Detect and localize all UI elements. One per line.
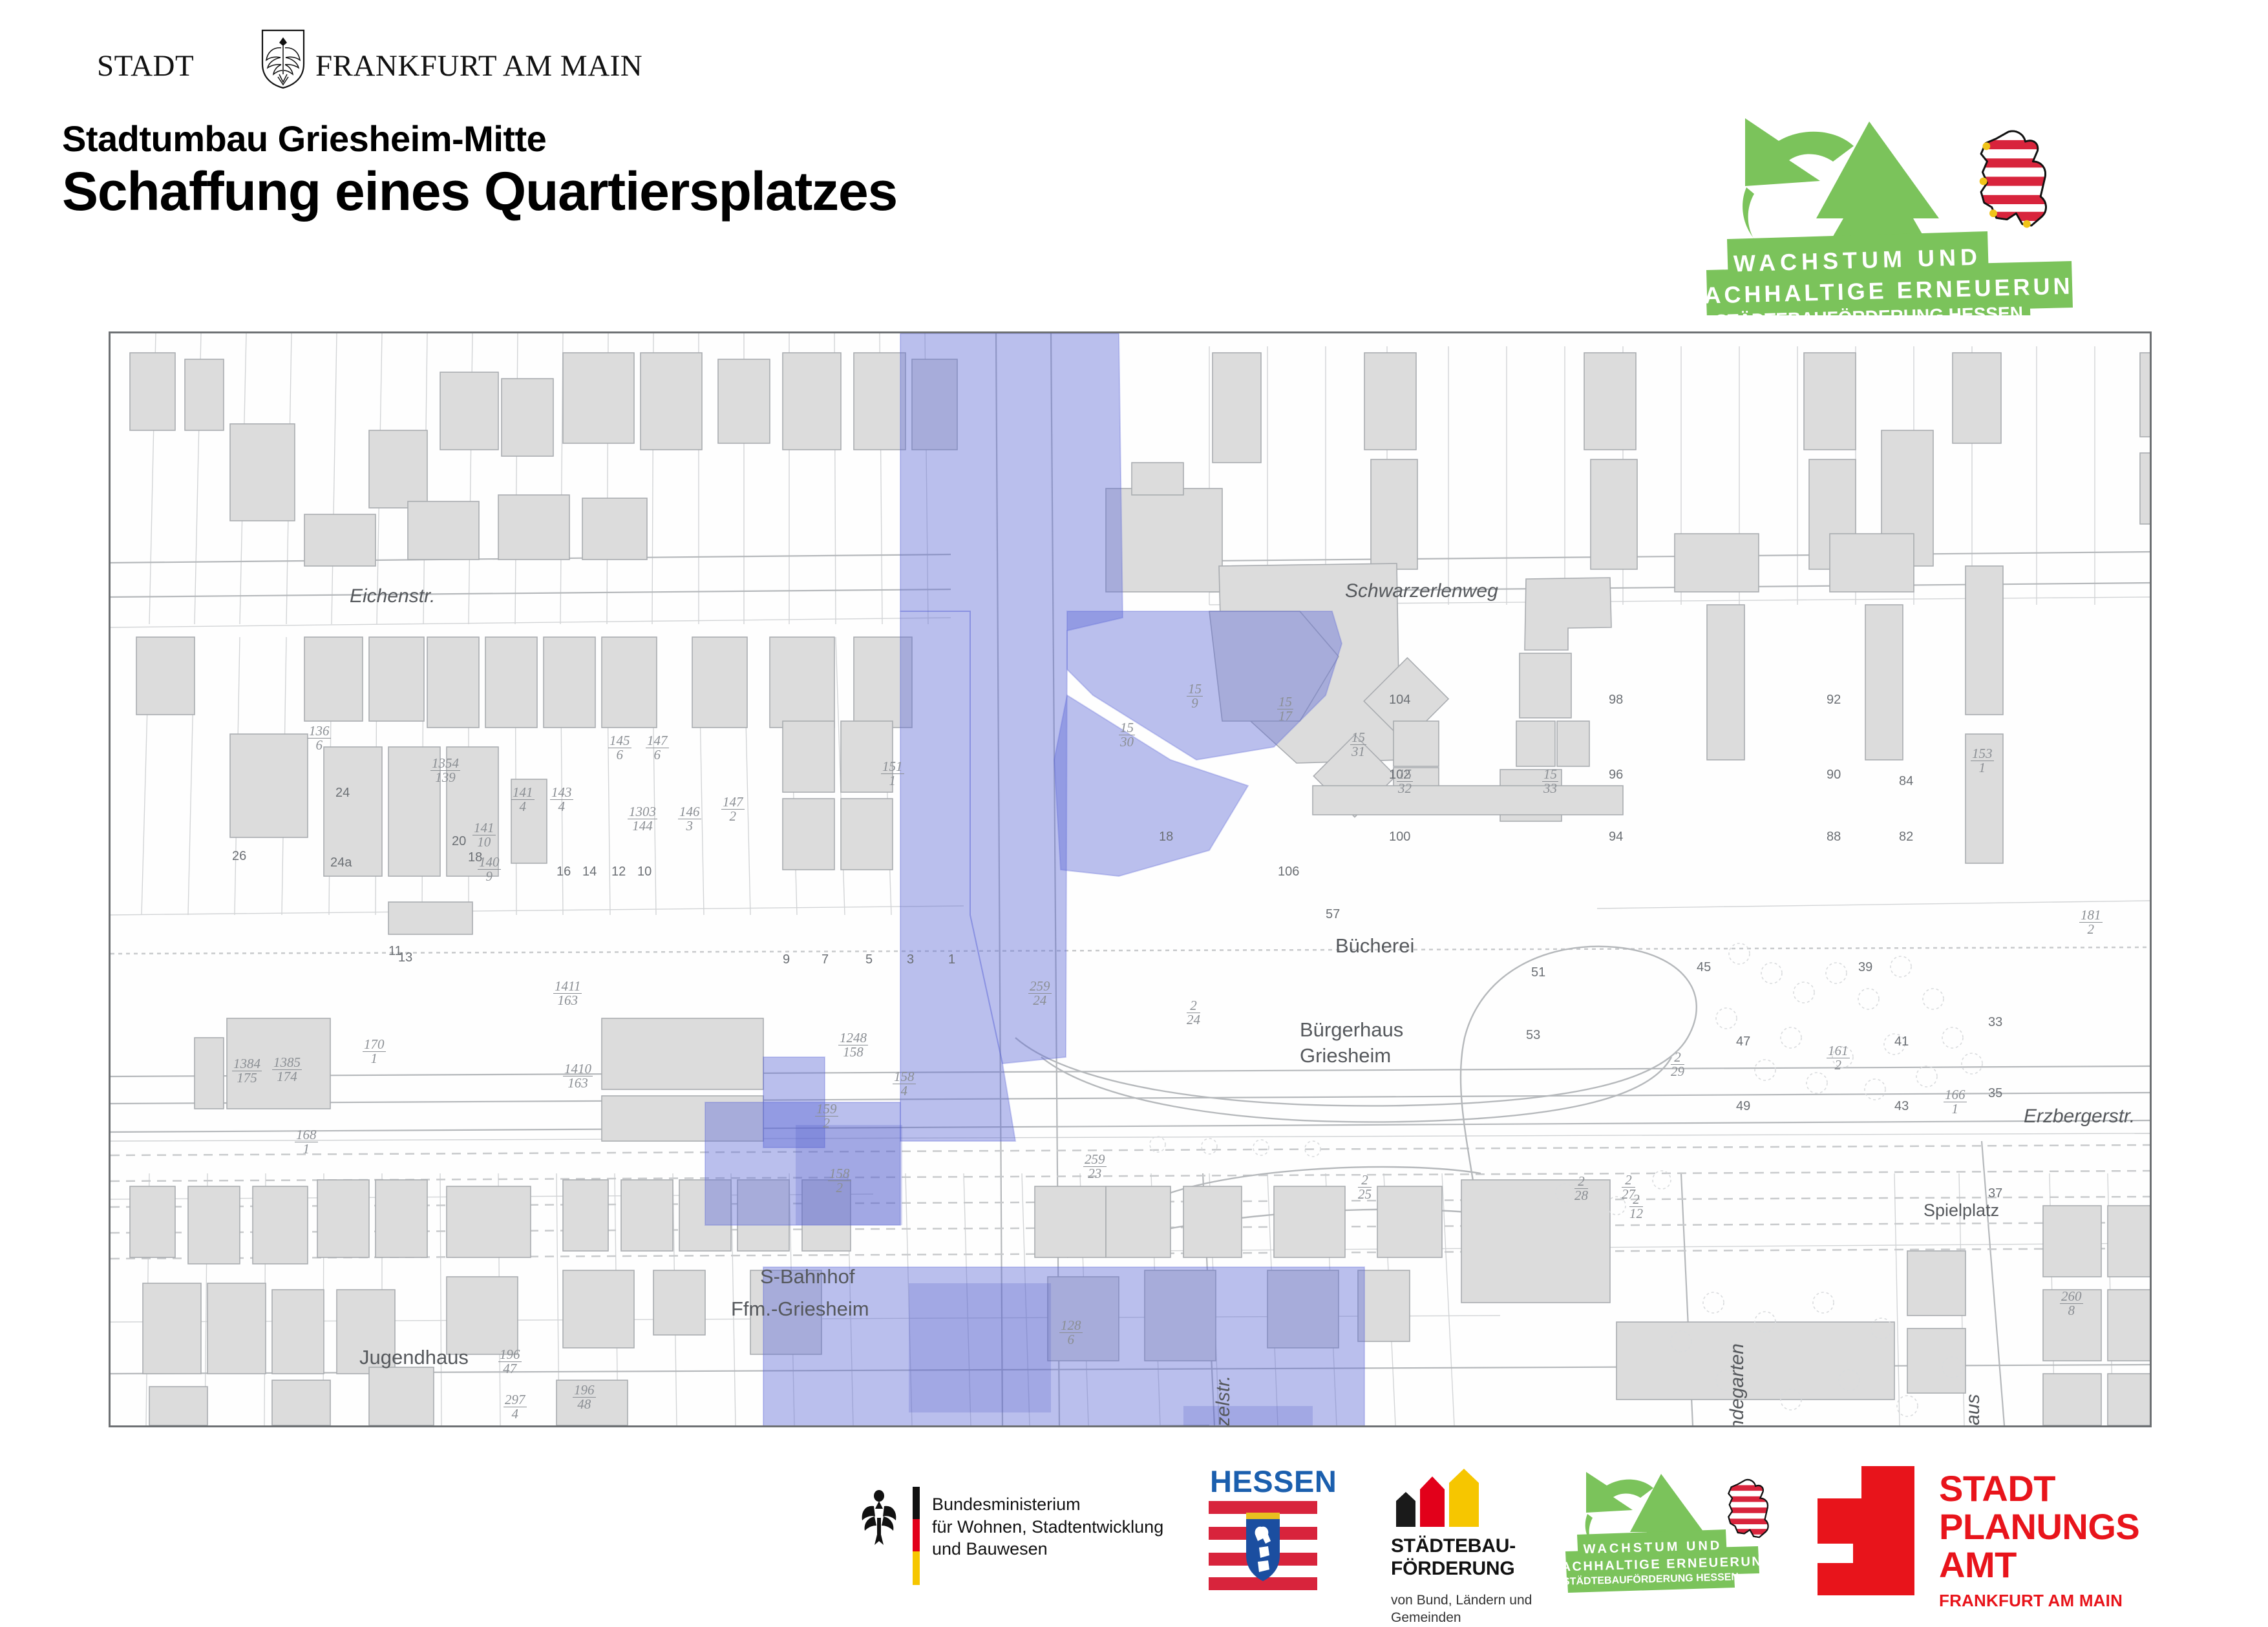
map-parcel-number: 17 bbox=[1862, 1425, 1872, 1427]
map-parcel-number: 1612 bbox=[1827, 1044, 1850, 1072]
map-house-number: 35 bbox=[1988, 1086, 2002, 1101]
map-house-number: 26 bbox=[232, 849, 246, 864]
map-parcel-number: 225 bbox=[1358, 1173, 1372, 1201]
map-place-label: Bürgerhaus bbox=[1300, 1018, 1403, 1042]
map-house-number: 10 bbox=[637, 865, 652, 879]
map-house-number: 53 bbox=[1526, 1028, 1540, 1043]
map-house-number: 94 bbox=[1609, 830, 1623, 845]
spa-sub: FRANKFURT AM MAIN bbox=[1939, 1591, 2139, 1611]
map-parcel-number: 1409 bbox=[478, 855, 501, 883]
map-parcel-number: 1531 bbox=[1971, 747, 1994, 775]
three-houses-icon bbox=[1391, 1469, 1485, 1527]
map-house-number: 3 bbox=[907, 952, 914, 967]
map-house-number: 49 bbox=[1736, 1099, 1750, 1114]
map-parcel-number: 1303144 bbox=[628, 805, 657, 833]
spa-line3: AMT bbox=[1939, 1546, 2139, 1584]
frankfurt-eagle-crest-icon bbox=[260, 28, 306, 89]
map-house-number: 98 bbox=[1609, 693, 1623, 708]
map-parcel-number: 19648 bbox=[573, 1383, 596, 1411]
stadtplanungsamt-mark-icon bbox=[1818, 1466, 1914, 1595]
bmwsb-line2: für Wohnen, Stadtentwicklung bbox=[932, 1516, 1163, 1538]
map-parcel-number: 1411163 bbox=[553, 980, 582, 1007]
map-house-number: 51 bbox=[1531, 965, 1545, 980]
map-house-number: 16 bbox=[556, 865, 571, 879]
hessen-lion-icon bbox=[1977, 131, 2053, 228]
map-parcel-number: 1248158 bbox=[838, 1031, 868, 1059]
map-parcel-number: 1701 bbox=[363, 1038, 386, 1065]
map-parcel-number: 1286 bbox=[1059, 1319, 1083, 1347]
map-house-number: 104 bbox=[1389, 693, 1410, 708]
sbf-line1: STÄDTEBAU- bbox=[1391, 1535, 1516, 1557]
map-place-label: Ffm.-Griesheim bbox=[731, 1297, 869, 1321]
map-house-number: 88 bbox=[1827, 830, 1841, 845]
bmwsb-line3: und Bauwesen bbox=[932, 1538, 1163, 1560]
map-house-number: 45 bbox=[1697, 960, 1711, 975]
hessen-lion-icon bbox=[1726, 1480, 1772, 1537]
map-parcel-number: 1812 bbox=[2079, 908, 2103, 936]
map-parcel-number: 19647 bbox=[498, 1348, 522, 1376]
hessen-word: HESSEN bbox=[1210, 1464, 1337, 1499]
map-parcel-number: 1584 bbox=[893, 1070, 916, 1098]
map-house-number: 90 bbox=[1827, 768, 1841, 782]
map-house-number: 82 bbox=[1899, 830, 1913, 845]
map-place-label: S-Bahnhof bbox=[760, 1265, 855, 1288]
map-street-label: Erzbergerstr. bbox=[2024, 1106, 2135, 1128]
page-header: STADT FRANKFURT AM MAIN Stadtumbau Gries… bbox=[0, 0, 2268, 304]
spa-line1: STADT bbox=[1939, 1470, 2139, 1508]
city-of-frankfurt-logo: STADT FRANKFURT AM MAIN bbox=[97, 36, 511, 94]
logo-staedtebaufoerderung: STÄDTEBAU- FÖRDERUNG von Bund, Ländern u… bbox=[1391, 1469, 1585, 1598]
map-parcel-number: 1532 bbox=[1397, 768, 1413, 795]
city-logo-text-left: STADT bbox=[97, 48, 194, 83]
map-house-number: 12 bbox=[611, 865, 626, 879]
sbf-sub1: von Bund, Ländern und bbox=[1391, 1592, 1532, 1610]
bmwsb-line1: Bundesministerium bbox=[932, 1493, 1163, 1516]
map-house-number: 13 bbox=[398, 950, 412, 965]
map-parcel-number: 1681 bbox=[295, 1128, 318, 1156]
map-parcel-number: 224 bbox=[1187, 999, 1200, 1027]
logo-bundesministerium: Bundesministerium für Wohnen, Stadtentwi… bbox=[860, 1475, 1163, 1585]
map-parcel-number: 228 bbox=[1574, 1175, 1588, 1202]
map-parcel-number: 1592 bbox=[815, 1102, 838, 1130]
logo-program-footer: WACHSTUM UND NACHHALTIGE ERNEUERUNG STÄD… bbox=[1564, 1470, 1797, 1596]
map-house-number: 14 bbox=[582, 865, 597, 879]
map-street-label: Obere Rützelstr. bbox=[1213, 1376, 1235, 1427]
map-house-number: 100 bbox=[1389, 830, 1410, 845]
map-parcel-number: 229 bbox=[1671, 1051, 1684, 1078]
map-parcel-number: 25923 bbox=[1083, 1153, 1107, 1181]
map-parcel-number: 1414 bbox=[511, 786, 535, 813]
map-parcel-number: 1476 bbox=[646, 734, 669, 762]
bundesadler-icon bbox=[860, 1487, 898, 1551]
map-house-number: 5 bbox=[865, 952, 873, 967]
map-place-label: Jugendhaus bbox=[359, 1346, 469, 1369]
map-house-number: 106 bbox=[1278, 865, 1299, 879]
sbf-line2: FÖRDERUNG bbox=[1391, 1557, 1516, 1580]
map-parcel-number: 1384175 bbox=[232, 1057, 262, 1085]
cadastral-map[interactable]: Eichenstr.SchwarzerlenwegErzbergerstr.Am… bbox=[109, 331, 2152, 1427]
map-house-number: 41 bbox=[1894, 1034, 1909, 1049]
map-place-label: Bücherei bbox=[1335, 934, 1414, 958]
sbf-sub2: Gemeinden bbox=[1391, 1610, 1532, 1627]
map-house-number: 39 bbox=[1858, 960, 1872, 975]
map-parcel-number: 1354139 bbox=[430, 757, 460, 784]
map-parcel-number: 1530 bbox=[1119, 721, 1135, 749]
page-title: Schaffung eines Quartiersplatzes bbox=[62, 160, 897, 223]
map-parcel-number: 212 bbox=[1629, 1193, 1643, 1221]
map-house-number: 1 bbox=[948, 952, 955, 967]
map-parcel-number: 1472 bbox=[721, 795, 745, 823]
hessen-flag-icon bbox=[1209, 1501, 1317, 1591]
map-place-label: Griesheim bbox=[1300, 1044, 1391, 1067]
page-subtitle: Stadtumbau Griesheim-Mitte bbox=[62, 118, 546, 160]
map-house-number: 24a bbox=[330, 855, 352, 870]
map-vector-layer bbox=[111, 333, 2150, 1425]
map-parcel-number: 14110 bbox=[472, 821, 496, 849]
map-street-label: Schwarzerlenweg bbox=[1345, 580, 1498, 602]
map-house-number: 43 bbox=[1894, 1099, 1909, 1114]
map-parcel-number: 1582 bbox=[828, 1167, 851, 1195]
map-parcel-number: 1533 bbox=[1542, 768, 1558, 795]
map-house-number: 47 bbox=[1736, 1034, 1750, 1049]
city-logo-text-right: FRANKFURT AM MAIN bbox=[315, 48, 642, 83]
map-house-number: 24 bbox=[335, 786, 350, 801]
page-footer-logos: Bundesministerium für Wohnen, Stadtentwi… bbox=[0, 1457, 2268, 1602]
map-parcel-number: 1661 bbox=[1944, 1088, 1967, 1116]
map-house-number: 57 bbox=[1326, 907, 1340, 922]
map-house-number: 37 bbox=[1988, 1186, 2002, 1201]
map-parcel-number: 1385174 bbox=[272, 1056, 302, 1084]
map-house-number: 84 bbox=[1899, 774, 1913, 789]
map-parcel-number: 1531 bbox=[1350, 731, 1366, 759]
map-parcel-number: 159 bbox=[1187, 682, 1203, 710]
map-house-number: 9 bbox=[783, 952, 790, 967]
spa-line2: PLANUNGS bbox=[1939, 1508, 2139, 1546]
map-house-number: 18 bbox=[1159, 830, 1173, 845]
map-house-number: 7 bbox=[821, 952, 829, 967]
map-parcel-number: 1517 bbox=[1277, 695, 1293, 723]
map-parcel-number: 1456 bbox=[608, 734, 631, 762]
map-parcel-number: 1463 bbox=[678, 805, 701, 833]
map-street-label: Am Brennhaus bbox=[1962, 1394, 1984, 1427]
map-parcel-number: 1434 bbox=[550, 786, 573, 813]
map-place-label: Spielplatz bbox=[1924, 1201, 1999, 1221]
map-house-number: 33 bbox=[1988, 1015, 2002, 1030]
map-parcel-number: 2608 bbox=[2060, 1290, 2083, 1317]
map-parcel-number: 2974 bbox=[503, 1393, 527, 1421]
program-logo-header: WACHSTUM UND NACHHALTIGE ERNEUERUNG STÄD… bbox=[1706, 115, 2126, 315]
map-house-number: 20 bbox=[452, 834, 466, 849]
map-parcel-number: 1366 bbox=[308, 724, 331, 752]
logo-hessen: HESSEN bbox=[1209, 1464, 1331, 1593]
map-parcel-number: 25924 bbox=[1028, 980, 1052, 1007]
map-street-label: Am Gemeindegarten bbox=[1726, 1343, 1748, 1427]
map-house-number: 96 bbox=[1609, 768, 1623, 782]
logo-stadtplanungsamt: STADT PLANUNGS AMT FRANKFURT AM MAIN bbox=[1818, 1466, 2095, 1595]
map-street-label: Eichenstr. bbox=[350, 585, 435, 607]
map-parcel-number: 1410163 bbox=[563, 1062, 593, 1090]
map-parcel-number: 1511 bbox=[881, 760, 904, 788]
map-house-number: 92 bbox=[1827, 693, 1841, 708]
